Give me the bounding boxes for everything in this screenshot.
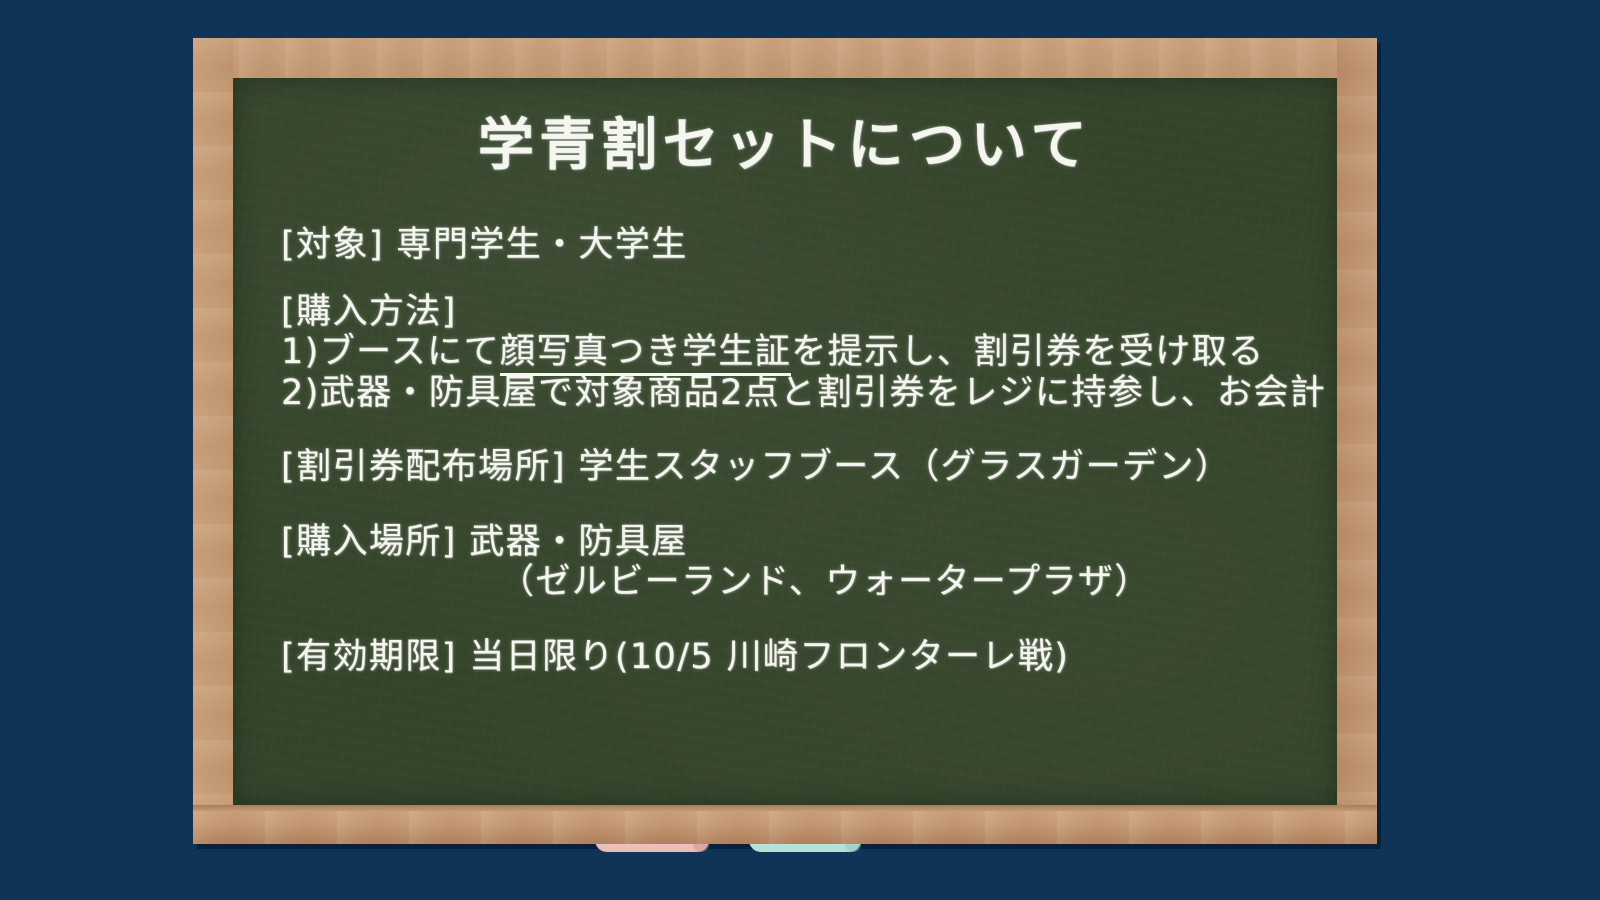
chalk-ledge-lip <box>193 805 1377 811</box>
spacer <box>281 604 1331 638</box>
board-body: [対象] 専門学生・大学生 [購入方法] 1)ブースにて顔写真つき学生証を提示し… <box>281 226 1331 678</box>
frame-rail-top <box>193 38 1377 78</box>
chalk-ledge <box>193 805 1377 844</box>
line-step-1: 1)ブースにて顔写真つき学生証を提示し、割引券を受け取る <box>281 333 1331 372</box>
line-coupon-distribution-location: [割引券配布場所] 学生スタッフブース（グラスガーデン） <box>281 448 1331 487</box>
frame-rail-left <box>193 38 233 844</box>
chalkboard-surface: 学青割セットについて [対象] 専門学生・大学生 [購入方法] 1)ブースにて顔… <box>233 78 1337 805</box>
slide-canvas: 学青割セットについて [対象] 専門学生・大学生 [購入方法] 1)ブースにて顔… <box>0 0 1600 900</box>
step-1-prefix-text: 1)ブースにて <box>281 332 500 372</box>
step-1-underlined-text: 顔写真つき学生証 <box>500 332 791 376</box>
line-purchase-method-heading: [購入方法] <box>281 293 1331 332</box>
spacer <box>281 267 1331 293</box>
spacer <box>281 489 1331 523</box>
line-validity-period: [有効期限] 当日限り(10/5 川崎フロンターレ戦) <box>281 638 1331 677</box>
frame-rail-right <box>1337 38 1377 844</box>
line-purchase-location: [購入場所] 武器・防具屋 <box>281 523 1331 562</box>
step-1-suffix-text: を提示し、割引券を受け取る <box>791 332 1264 372</box>
line-target: [対象] 専門学生・大学生 <box>281 226 1331 265</box>
spacer <box>281 414 1331 448</box>
line-purchase-venues: （ゼルビーランド、ウォータープラザ） <box>281 563 1331 602</box>
chalkboard-frame: 学青割セットについて [対象] 専門学生・大学生 [購入方法] 1)ブースにて顔… <box>193 38 1377 844</box>
line-step-2: 2)武器・防具屋で対象商品2点と割引券をレジに持参し、お会計 <box>281 374 1331 413</box>
board-title: 学青割セットについて <box>233 100 1337 181</box>
